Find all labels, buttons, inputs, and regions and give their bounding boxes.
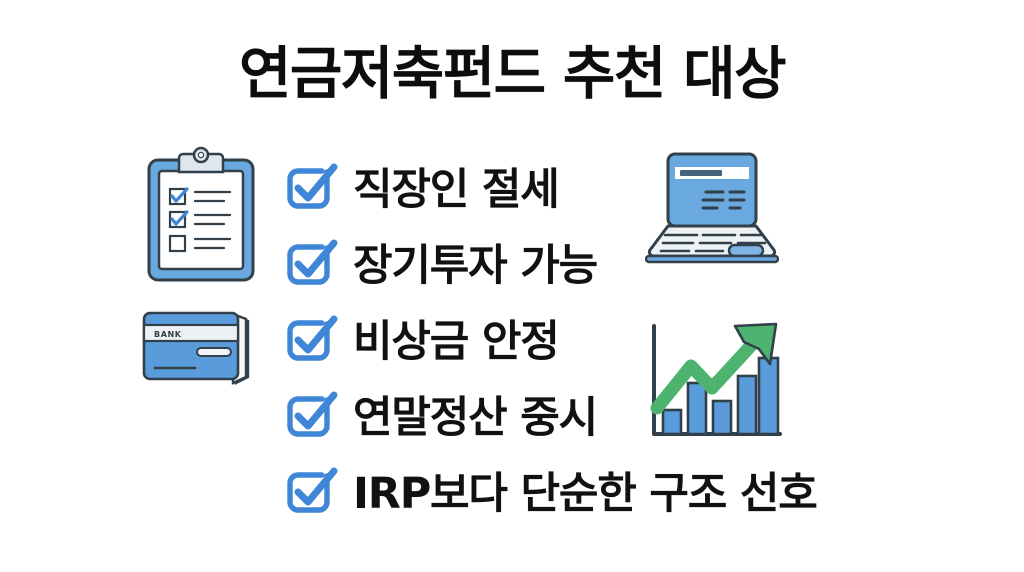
checkbox-checked-icon[interactable] [283,466,341,522]
list-item[interactable]: 장기투자 가능 [283,228,903,304]
slide-canvas: 연금저축펀드 추천 대상 [0,0,1024,572]
clipboard-checklist-icon [142,146,260,291]
list-item-label: 연말정산 중시 [353,397,597,440]
checkbox-checked-icon[interactable] [283,390,341,446]
checklist: 직장인 절세 장기투자 가능 비상금 안정 [283,152,903,532]
list-item[interactable]: 직장인 절세 [283,152,903,228]
checkbox-checked-icon[interactable] [283,162,341,218]
list-item-label: 장기투자 가능 [353,245,597,288]
list-item-label: IRP보다 단순한 구조 선호 [353,473,817,516]
list-item-label: 직장인 절세 [353,169,559,212]
checkbox-checked-icon[interactable] [283,238,341,294]
page-title: 연금저축펀드 추천 대상 [0,42,1024,108]
list-item-label: 비상금 안정 [353,321,559,364]
list-item[interactable]: 연말정산 중시 [283,380,903,456]
checkbox-checked-icon[interactable] [283,314,341,370]
bank-card-icon: BANK [133,303,261,404]
list-item[interactable]: IRP보다 단순한 구조 선호 [283,456,903,532]
list-item[interactable]: 비상금 안정 [283,304,903,380]
bank-card-label: BANK [154,330,182,339]
